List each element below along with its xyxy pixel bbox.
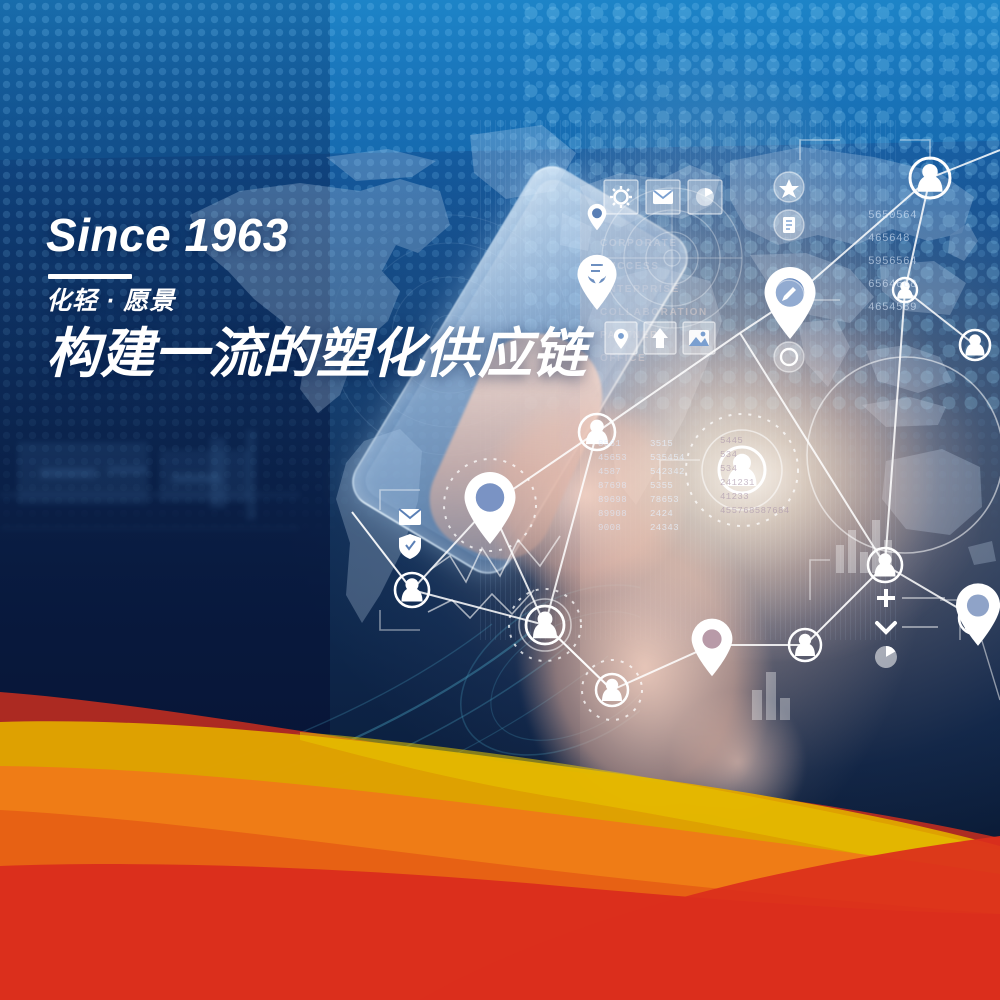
hud-number: 5956564 xyxy=(868,251,917,274)
hud-number: 535454 xyxy=(650,452,685,466)
hud-number: 9008 xyxy=(598,522,627,536)
hud-number: 5445 xyxy=(720,435,790,449)
hud-number-column-right: 5650564 465648 5956564 6564668 4654589 xyxy=(868,205,917,320)
hud-number: 8561 xyxy=(598,438,627,452)
hud-number: 542342 xyxy=(650,466,685,480)
hud-number: 45653 xyxy=(598,452,627,466)
promo-banner: CORPORATE SUCCESS ENTERPRISE COLLABORATI… xyxy=(0,0,1000,1000)
banner-text-block: Since 1963 化轻 · 愿景 构建一流的塑化供应链 xyxy=(46,212,586,384)
hud-number: 241231 xyxy=(720,477,790,491)
hud-number: 87698 xyxy=(598,480,627,494)
hud-number: 4587 xyxy=(598,466,627,480)
bottom-wave-decoration xyxy=(0,670,1000,1000)
hud-number: 4654589 xyxy=(868,297,917,320)
hud-number-column-mid: 3515 535454 542342 5355 78653 2424 24343 xyxy=(650,438,685,536)
hud-number: 6564668 xyxy=(868,274,917,297)
hud-number-column-warm: 5445 534 534 241231 41233 455768587684 xyxy=(720,435,790,519)
hud-number: 534 xyxy=(720,463,790,477)
hud-number: 5355 xyxy=(650,480,685,494)
hud-number: 5650564 xyxy=(868,205,917,228)
hud-number: 534 xyxy=(720,449,790,463)
banner-headline: 构建一流的塑化供应链 xyxy=(46,324,586,384)
banner-subtitle: 化轻 · 愿景 xyxy=(46,287,586,316)
hud-number: 78653 xyxy=(650,494,685,508)
hud-number: 89908 xyxy=(598,508,627,522)
eyebrow-since-text: Since 1963 xyxy=(46,212,586,258)
hud-number: 465648 xyxy=(868,228,917,251)
hud-number: 2424 xyxy=(650,508,685,522)
hud-number: 3515 xyxy=(650,438,685,452)
hud-number: 89698 xyxy=(598,494,627,508)
hud-number-column-left: 8561 45653 4587 87698 89698 89908 9008 xyxy=(598,438,627,536)
text-divider-rule xyxy=(48,274,132,279)
hud-number: 455768587684 xyxy=(720,505,790,519)
hud-number: 41233 xyxy=(720,491,790,505)
hud-number: 24343 xyxy=(650,522,685,536)
